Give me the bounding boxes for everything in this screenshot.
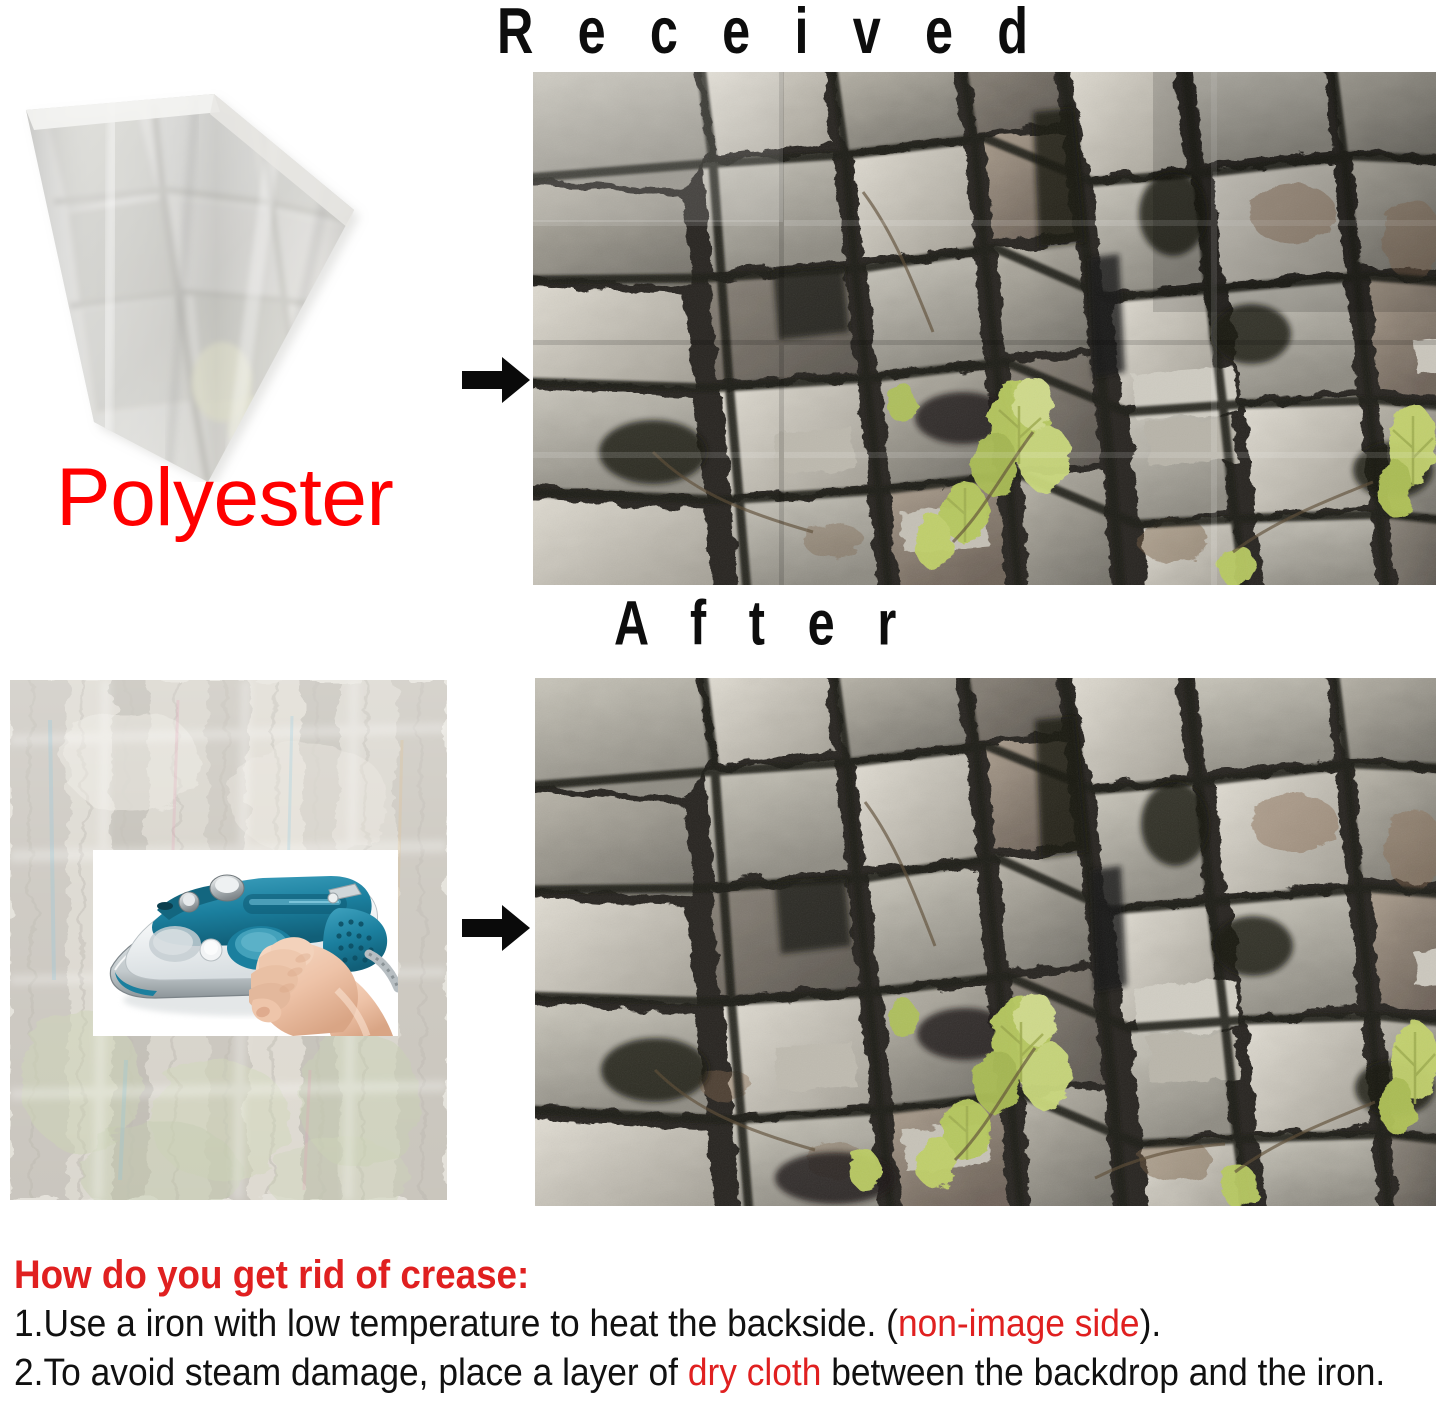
polyester-label: Polyester (56, 455, 393, 541)
rock-wall-illustration-after (535, 678, 1436, 1206)
page-title-received: R e c e i v e d (497, 0, 1043, 66)
received-rock-backdrop-photo (533, 72, 1436, 585)
steam-iron-illustration (93, 850, 398, 1036)
instruction-1-text-a: 1.Use a iron with low temperature to hea… (14, 1303, 898, 1345)
care-instructions: How do you get rid of crease: 1.Use a ir… (14, 1252, 1424, 1396)
instruction-1-text-b: ). (1140, 1303, 1162, 1345)
folded-fabric-illustration (18, 82, 438, 482)
instruction-2-text-a: 2.To avoid steam damage, place a layer o… (14, 1352, 688, 1394)
instruction-2-highlight: dry cloth (688, 1352, 822, 1394)
instruction-line-2: 2.To avoid steam damage, place a layer o… (14, 1351, 1325, 1396)
instructions-heading: How do you get rid of crease: (14, 1252, 1311, 1298)
arrow-right-icon-2 (460, 900, 532, 956)
page-title-after: A f t e r (614, 590, 911, 657)
iron-demo-photo (93, 850, 398, 1036)
instruction-1-highlight: non-image side (898, 1303, 1140, 1345)
after-rock-backdrop-photo (535, 678, 1436, 1206)
folded-fabric-image (18, 82, 438, 482)
arrow-right-icon (460, 352, 532, 408)
instruction-2-text-b: between the backdrop and the iron. (821, 1352, 1385, 1394)
instruction-line-1: 1.Use a iron with low temperature to hea… (14, 1302, 1325, 1347)
rock-wall-illustration-received (533, 72, 1436, 585)
